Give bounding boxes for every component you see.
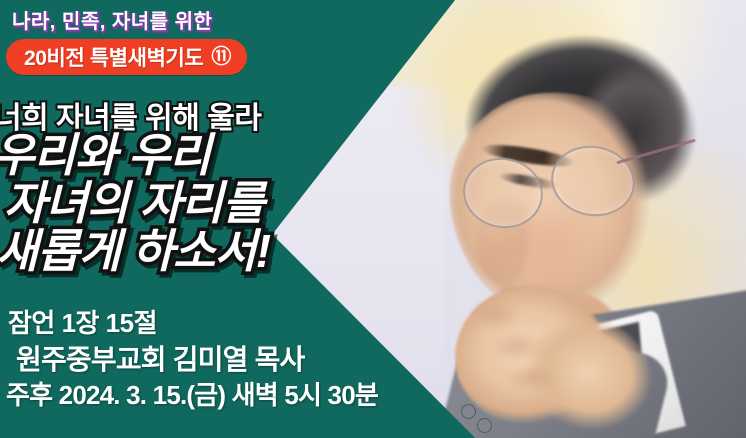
main-title-line-1: 우리와 우리 [0, 132, 340, 180]
info-block: 잠언 1장 15절 원주중부교회 김미열 목사 주후 2024. 3. 15.(… [8, 306, 478, 413]
eyebrow-heading: 나라, 민족, 자녀를 위한 [12, 5, 212, 34]
series-badge: 20비전 특별새벽기도 ⑪ [6, 39, 247, 75]
main-title-line-2: 자녀의 자리를 [4, 180, 340, 228]
text-layer: 나라, 민족, 자녀를 위한 20비전 특별새벽기도 ⑪ 너희 자녀를 위해 울… [0, 0, 746, 438]
series-badge-label: 20비전 특별새벽기도 [24, 42, 203, 72]
prayer-poster: 나라, 민족, 자녀를 위한 20비전 특별새벽기도 ⑪ 너희 자녀를 위해 울… [0, 0, 746, 438]
series-badge-number: ⑪ [211, 47, 231, 67]
main-title-line-3: 새롭게 하소서! [0, 228, 340, 276]
scripture-reference: 잠언 1장 15절 [8, 306, 478, 341]
service-datetime: 주후 2024. 3. 15.(금) 새벽 5시 30분 [6, 378, 478, 413]
main-title: 우리와 우리 자녀의 자리를 새롭게 하소서! [0, 132, 340, 275]
church-and-pastor: 원주중부교회 김미열 목사 [16, 341, 478, 379]
